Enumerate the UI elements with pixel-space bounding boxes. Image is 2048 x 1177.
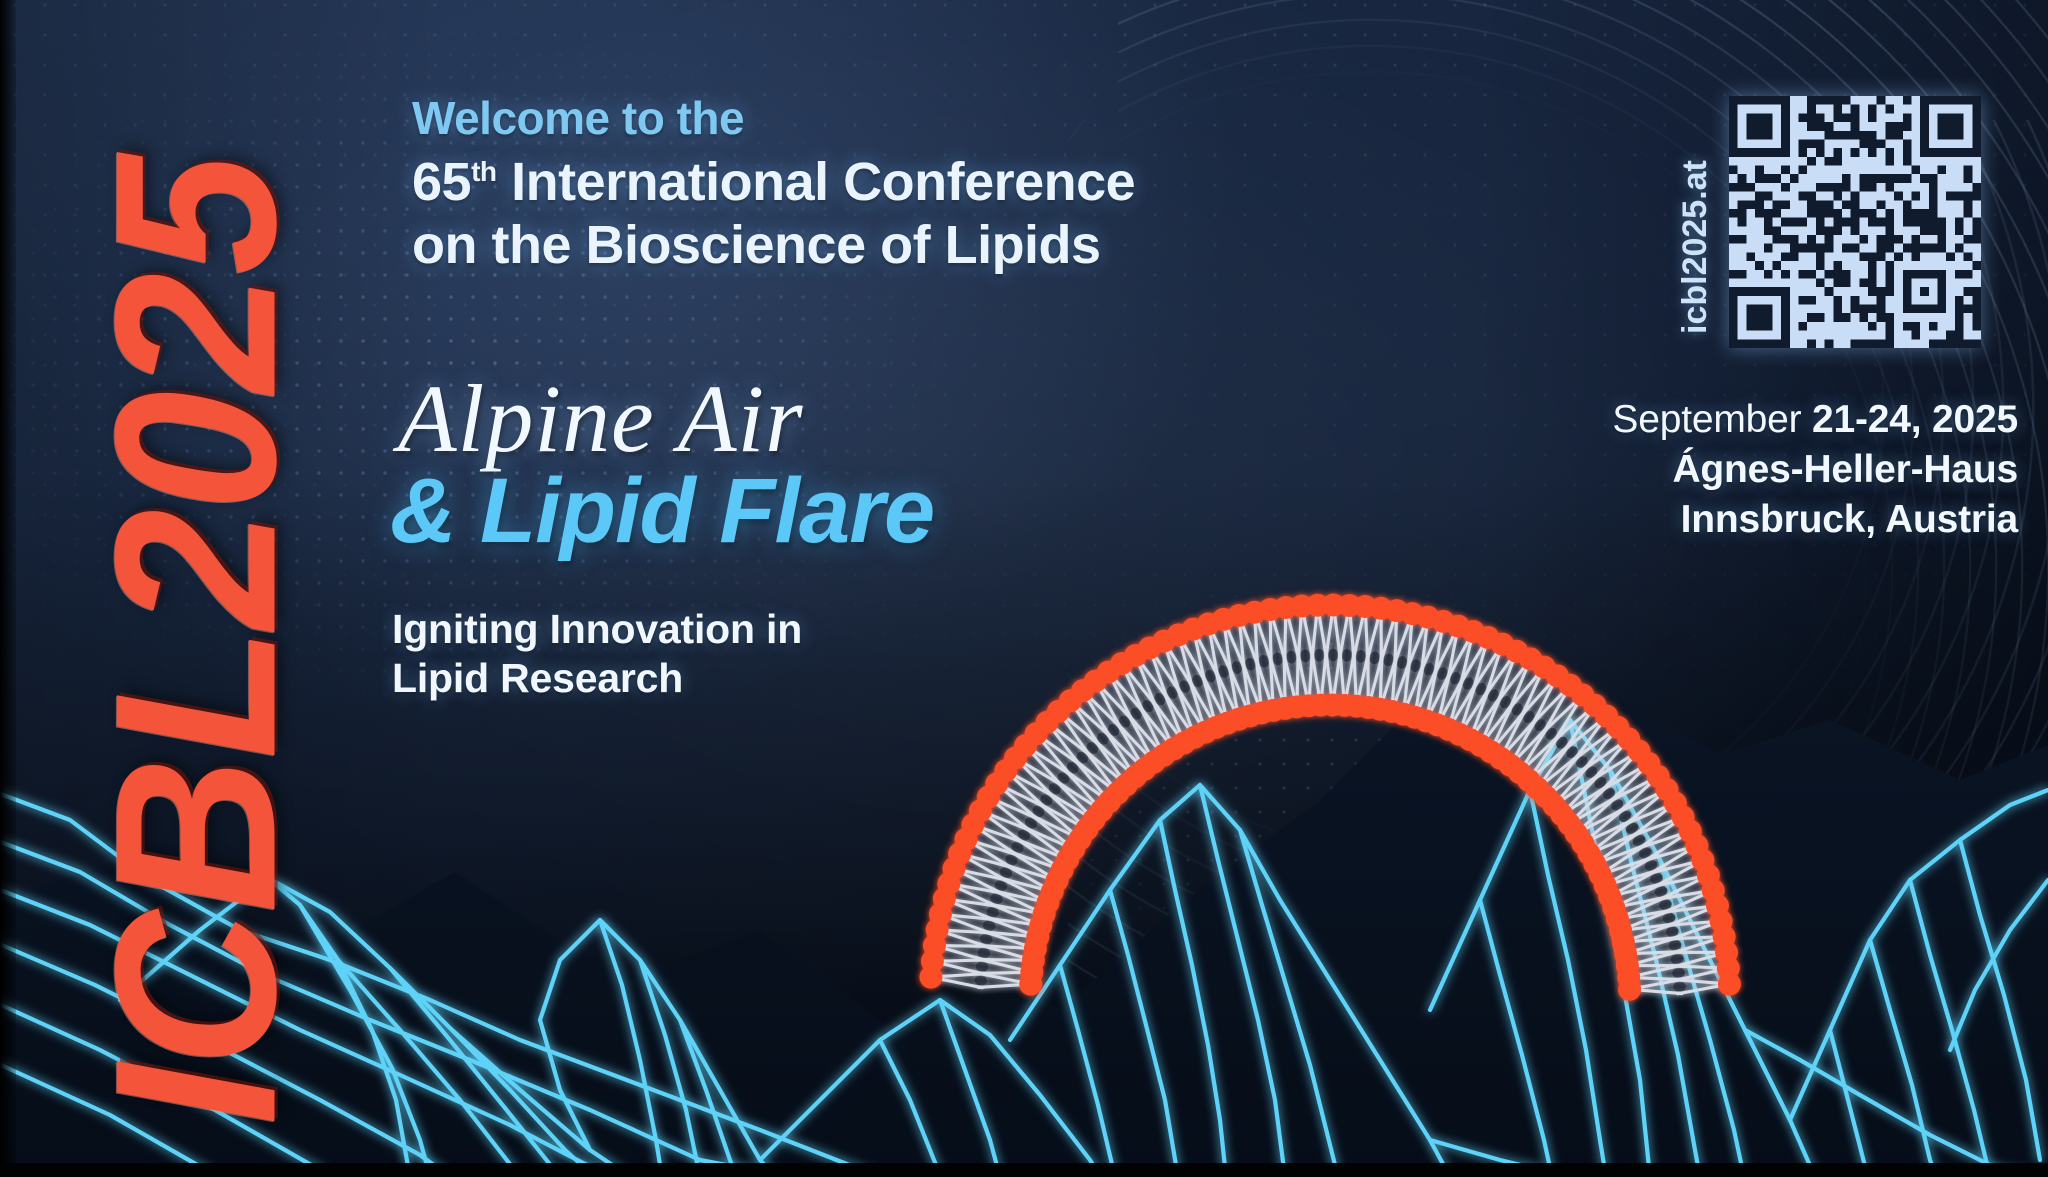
lipid-core (1643, 852, 1647, 854)
lipid-core (1171, 691, 1173, 695)
qr-block[interactable]: icbl2025.at (1676, 96, 1981, 348)
lipid-core (1415, 664, 1416, 668)
lipid-core (1250, 662, 1251, 666)
bottom-letterbox (0, 1163, 2048, 1177)
lipid-core (1029, 822, 1032, 824)
event-date-month: September (1612, 398, 1812, 441)
edition-ordinal: th (471, 156, 497, 187)
lipid-core (1102, 737, 1105, 740)
lipid-core (1571, 751, 1574, 754)
headline-block: Welcome to the 65th International Confer… (412, 92, 1312, 277)
lipid-core (1062, 777, 1065, 780)
lipid-core (1442, 672, 1443, 676)
lipid-core (1492, 694, 1494, 698)
lipid-core (1539, 724, 1541, 727)
lipid-core (1264, 659, 1265, 663)
lipid-core (995, 898, 999, 899)
lipid-core (1236, 666, 1237, 670)
qr-code-icon[interactable] (1729, 96, 1981, 348)
lipid-core (1016, 846, 1020, 848)
conference-title-rest: International Conference (497, 152, 1136, 212)
lipid-core (1112, 728, 1114, 731)
lipid-core (1637, 840, 1641, 842)
lipid-head-group (1718, 973, 1741, 996)
event-date: September 21-24, 2025 (1612, 395, 2018, 445)
lipid-core (1053, 788, 1056, 790)
qr-url-label: icbl2025.at (1676, 96, 1715, 334)
lipid-core (982, 953, 986, 954)
lipid-core (1037, 810, 1040, 812)
lipid-core (1675, 959, 1679, 960)
conference-title-line-1: 65th International Conference (412, 151, 1312, 214)
lipid-core (999, 885, 1003, 886)
edition-number: 65 (412, 152, 471, 212)
lipid-core (1616, 804, 1619, 806)
theme-line-alpine-air: Alpine Air (398, 370, 1258, 468)
lipid-core (1590, 771, 1593, 774)
lipid-core (987, 925, 991, 926)
lipid-core (1428, 667, 1429, 671)
left-edge-shadow (0, 0, 16, 1177)
lipid-core (1607, 792, 1610, 794)
lipid-core (1184, 685, 1186, 689)
lipid-head-group (1618, 978, 1641, 1001)
lipid-core (1022, 834, 1026, 836)
event-meta-block: September 21-24, 2025 Ágnes-Heller-Haus … (1612, 395, 2018, 545)
lipid-core (1659, 891, 1663, 892)
lipid-core (1045, 799, 1048, 801)
lipid-core (1467, 682, 1469, 686)
lipid-core (1528, 715, 1530, 718)
event-venue: Ágnes-Heller-Haus (1612, 445, 2018, 495)
lipid-core (1210, 674, 1211, 678)
tagline-line-2: Lipid Research (392, 654, 802, 703)
theme-line-lipid-flare: & Lipid Flare (390, 464, 1258, 560)
lipid-core (1402, 661, 1403, 665)
lipid-core (1277, 657, 1278, 661)
lipid-core (1480, 687, 1482, 691)
lipid-core (984, 939, 988, 940)
lipid-core (1374, 656, 1375, 660)
lipid-core (1516, 708, 1518, 711)
lipid-core (1599, 781, 1602, 784)
lipid-core (991, 912, 995, 913)
lipid-core (1630, 827, 1633, 829)
conference-welcome-slide: ICBL2025 Welcome to the 65th Internation… (0, 0, 2048, 1177)
lipid-core (1667, 918, 1671, 919)
lipid-core (1580, 761, 1583, 764)
lipid-core (1135, 712, 1137, 715)
lipid-core (1081, 756, 1084, 759)
event-date-days: 21-24, 2025 (1812, 398, 2018, 441)
lipid-core (1010, 859, 1014, 861)
lipid-core (1550, 732, 1553, 735)
conference-title-line-2: on the Bioscience of Lipids (412, 214, 1312, 277)
lipid-core (1504, 700, 1506, 703)
lipid-core (1649, 865, 1653, 867)
lipid-core (1654, 878, 1658, 879)
lipid-core (1455, 676, 1456, 680)
lipid-core (1197, 679, 1199, 683)
lipid-core (1071, 766, 1074, 769)
lipid-core (1560, 741, 1563, 744)
lipid-core (1159, 697, 1161, 700)
tagline-block: Igniting Innovation in Lipid Research (392, 605, 802, 703)
lipid-core (1670, 931, 1674, 932)
tagline-line-1: Igniting Innovation in (392, 605, 802, 654)
lipid-core (1663, 904, 1667, 905)
lipid-core (1223, 670, 1224, 674)
event-city: Innsbruck, Austria (1612, 495, 2018, 545)
lipid-core (1123, 720, 1125, 723)
theme-block: Alpine Air & Lipid Flare (398, 370, 1258, 560)
lipid-core (1091, 747, 1094, 750)
lipid-core (1388, 658, 1389, 662)
lipid-core (1623, 815, 1626, 817)
lipid-core (1673, 945, 1677, 946)
welcome-line: Welcome to the (412, 92, 1312, 145)
lipid-core (1004, 872, 1008, 874)
lipid-core (1147, 704, 1149, 707)
